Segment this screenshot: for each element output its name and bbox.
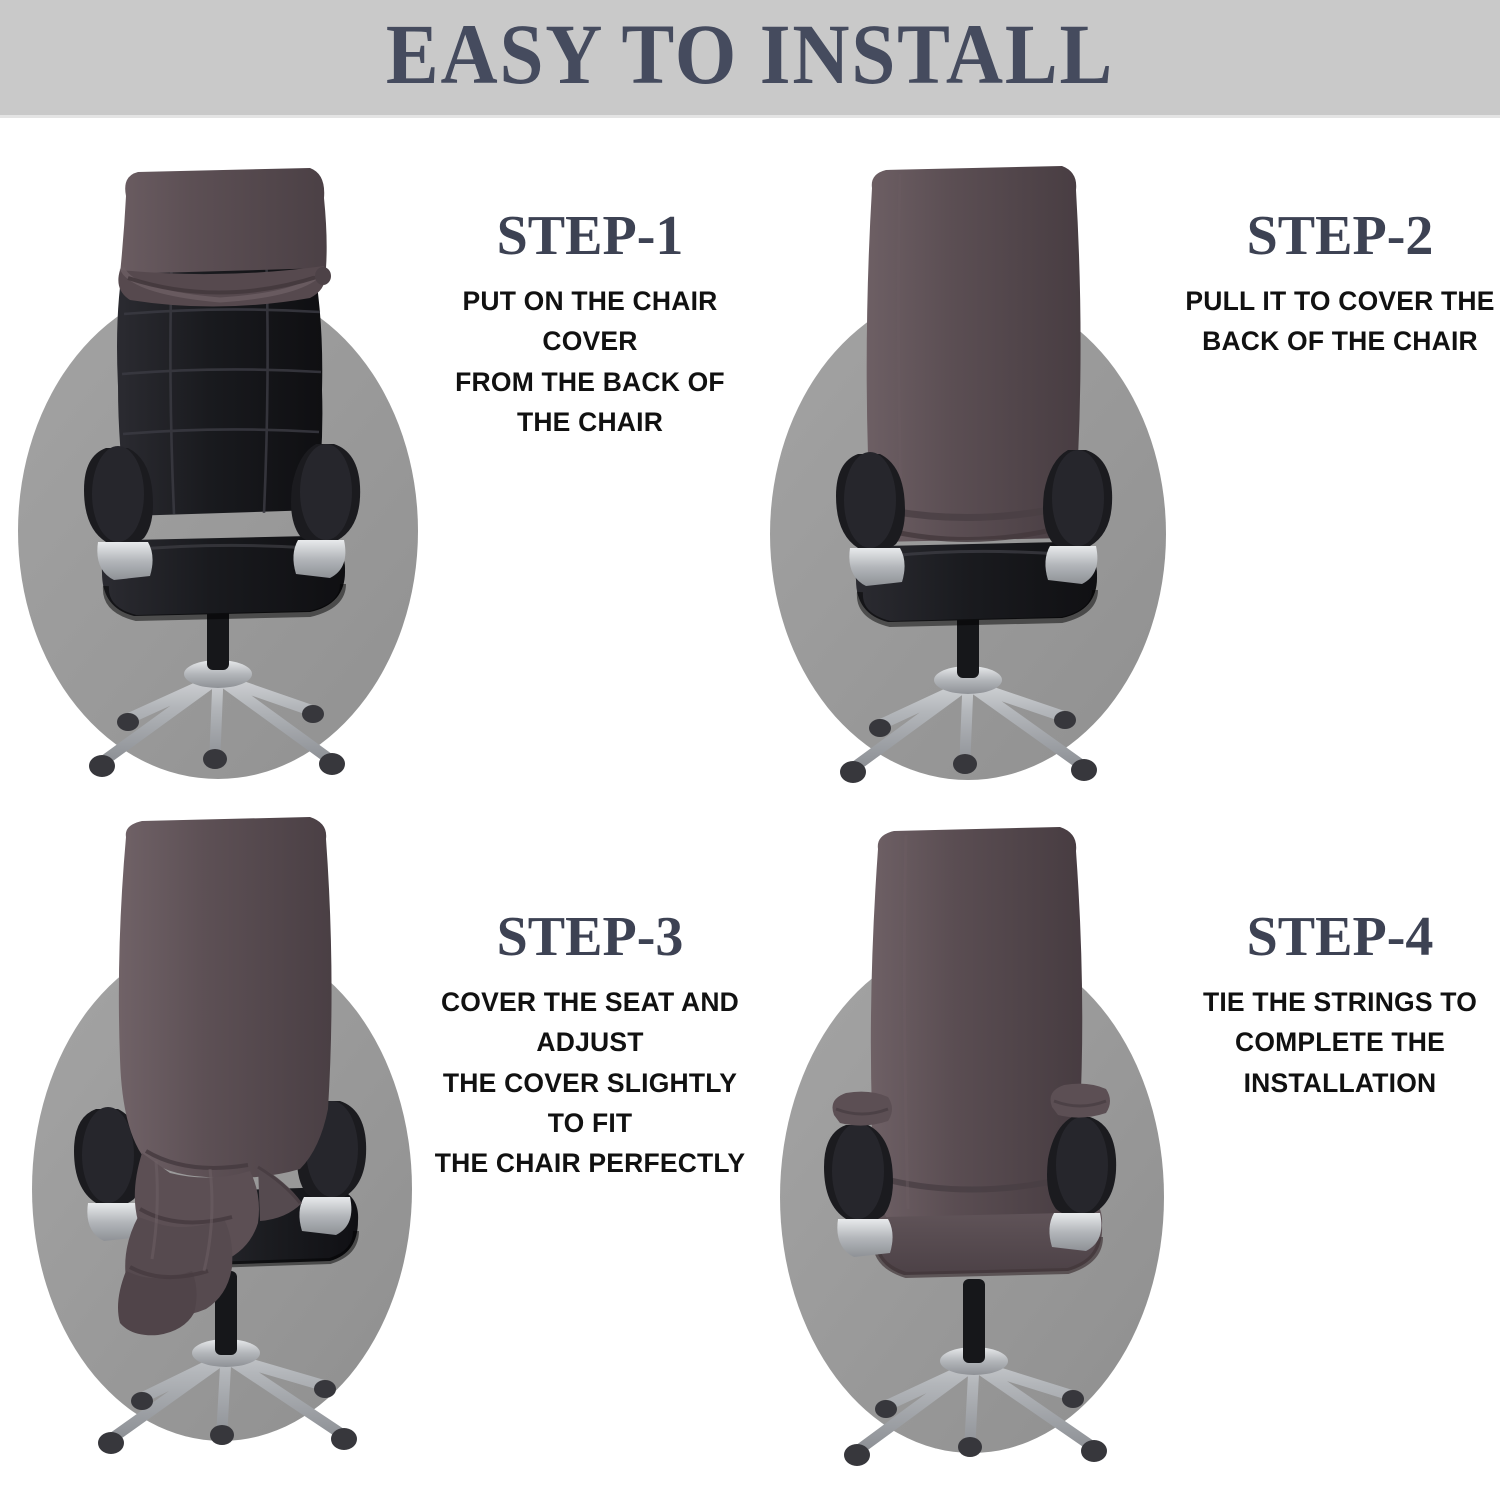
step-2-text: STEP-2 PULL IT TO COVER THE BACK OF THE …	[1180, 118, 1500, 362]
step-2-description: PULL IT TO COVER THE BACK OF THE CHAIR	[1180, 281, 1500, 362]
step-1-photo	[10, 118, 440, 808]
page-title: EASY TO INSTALL	[60, 4, 1440, 104]
step-3-text: STEP-3 COVER THE SEAT AND ADJUST THE COV…	[430, 809, 750, 1183]
steps-grid: STEP-1 PUT ON THE CHAIR COVER FROM THE B…	[0, 118, 1500, 1500]
header-band: EASY TO INSTALL	[0, 0, 1500, 118]
step-3-label: STEP-3	[430, 909, 750, 966]
step-2-label: STEP-2	[1180, 208, 1500, 265]
step-card-1: STEP-1 PUT ON THE CHAIR COVER FROM THE B…	[0, 118, 750, 809]
step-1-label: STEP-1	[430, 208, 750, 265]
step-3-photo	[10, 809, 440, 1499]
infographic-page: EASY TO INSTALL	[0, 0, 1500, 1500]
step-4-text: STEP-4 TIE THE STRINGS TO COMPLETE THE I…	[1180, 809, 1500, 1103]
step-1-text: STEP-1 PUT ON THE CHAIR COVER FROM THE B…	[430, 118, 750, 442]
step-3-description: COVER THE SEAT AND ADJUST THE COVER SLIG…	[430, 982, 750, 1183]
step-1-description: PUT ON THE CHAIR COVER FROM THE BACK OF …	[430, 281, 750, 442]
step-card-4: STEP-4 TIE THE STRINGS TO COMPLETE THE I…	[750, 809, 1500, 1500]
step-4-label: STEP-4	[1180, 909, 1500, 966]
step-4-photo	[760, 809, 1190, 1499]
step-2-photo	[760, 118, 1190, 808]
step-card-2: STEP-2 PULL IT TO COVER THE BACK OF THE …	[750, 118, 1500, 809]
cover-piece	[118, 168, 331, 307]
step-4-description: TIE THE STRINGS TO COMPLETE THE INSTALLA…	[1180, 982, 1500, 1103]
step-card-3: STEP-3 COVER THE SEAT AND ADJUST THE COV…	[0, 809, 750, 1500]
